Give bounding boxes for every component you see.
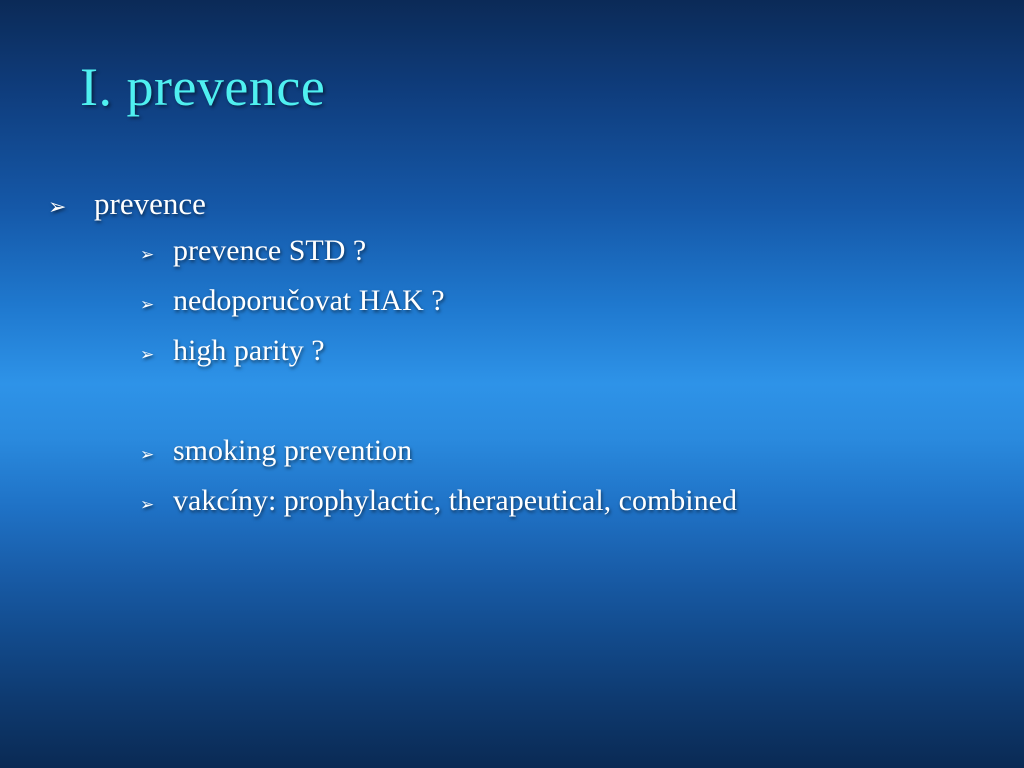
bullet-arrow-icon: ➢ [140, 445, 173, 465]
list-item-label: vakcíny: prophylactic, therapeutical, co… [173, 484, 737, 518]
bullet-arrow-icon: ➢ [140, 245, 173, 265]
presentation-slide: I. prevence ➢ prevence ➢ prevence STD ? … [0, 0, 1024, 768]
list-item: ➢ smoking prevention [48, 434, 978, 468]
list-item: ➢ vakcíny: prophylactic, therapeutical, … [48, 484, 978, 518]
list-item-label: smoking prevention [173, 434, 412, 468]
bullet-arrow-icon: ➢ [140, 495, 173, 515]
list-item: ➢ high parity ? [48, 334, 978, 368]
list-item-label: prevence STD ? [173, 234, 366, 268]
slide-title: I. prevence [80, 58, 325, 117]
list-spacer [48, 384, 978, 434]
bullet-arrow-icon: ➢ [140, 345, 173, 365]
list-item: ➢ prevence [48, 186, 978, 222]
bullet-arrow-icon: ➢ [48, 195, 92, 220]
slide-body: ➢ prevence ➢ prevence STD ? ➢ nedoporučo… [48, 186, 978, 534]
list-item-label: nedoporučovat HAK ? [173, 284, 445, 318]
list-item: ➢ nedoporučovat HAK ? [48, 284, 978, 318]
list-item: ➢ prevence STD ? [48, 234, 978, 268]
bullet-arrow-icon: ➢ [140, 295, 173, 315]
list-item-label: high parity ? [173, 334, 325, 368]
list-item-label: prevence [92, 186, 206, 222]
